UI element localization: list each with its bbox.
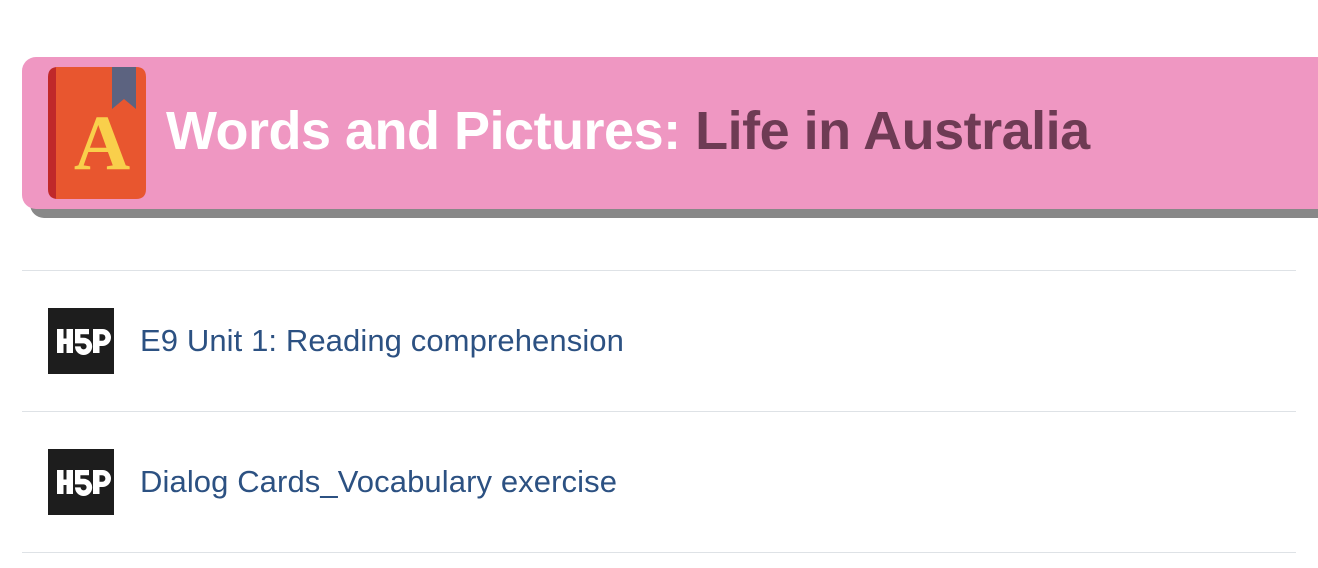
activity-list: E9 Unit 1: Reading comprehension Dialog … — [22, 270, 1296, 553]
h5p-icon — [48, 308, 114, 374]
page-title: Words and Pictures: Life in Australia — [166, 104, 1090, 158]
h5p-icon — [48, 449, 114, 515]
list-divider — [22, 552, 1296, 553]
svg-text:A: A — [74, 99, 130, 186]
page-title-primary: Words and Pictures: — [166, 101, 681, 161]
page-title-secondary: Life in Australia — [695, 101, 1090, 161]
course-section-banner: A Words and Pictures: Life in Australia — [22, 57, 1318, 209]
banner-body: A Words and Pictures: Life in Australia — [22, 57, 1318, 209]
activity-link[interactable]: E9 Unit 1: Reading comprehension — [140, 322, 624, 359]
dictionary-book-icon: A — [44, 63, 150, 203]
activity-link[interactable]: Dialog Cards_Vocabulary exercise — [140, 463, 617, 500]
list-item[interactable]: E9 Unit 1: Reading comprehension — [22, 271, 1296, 411]
list-item[interactable]: Dialog Cards_Vocabulary exercise — [22, 412, 1296, 552]
